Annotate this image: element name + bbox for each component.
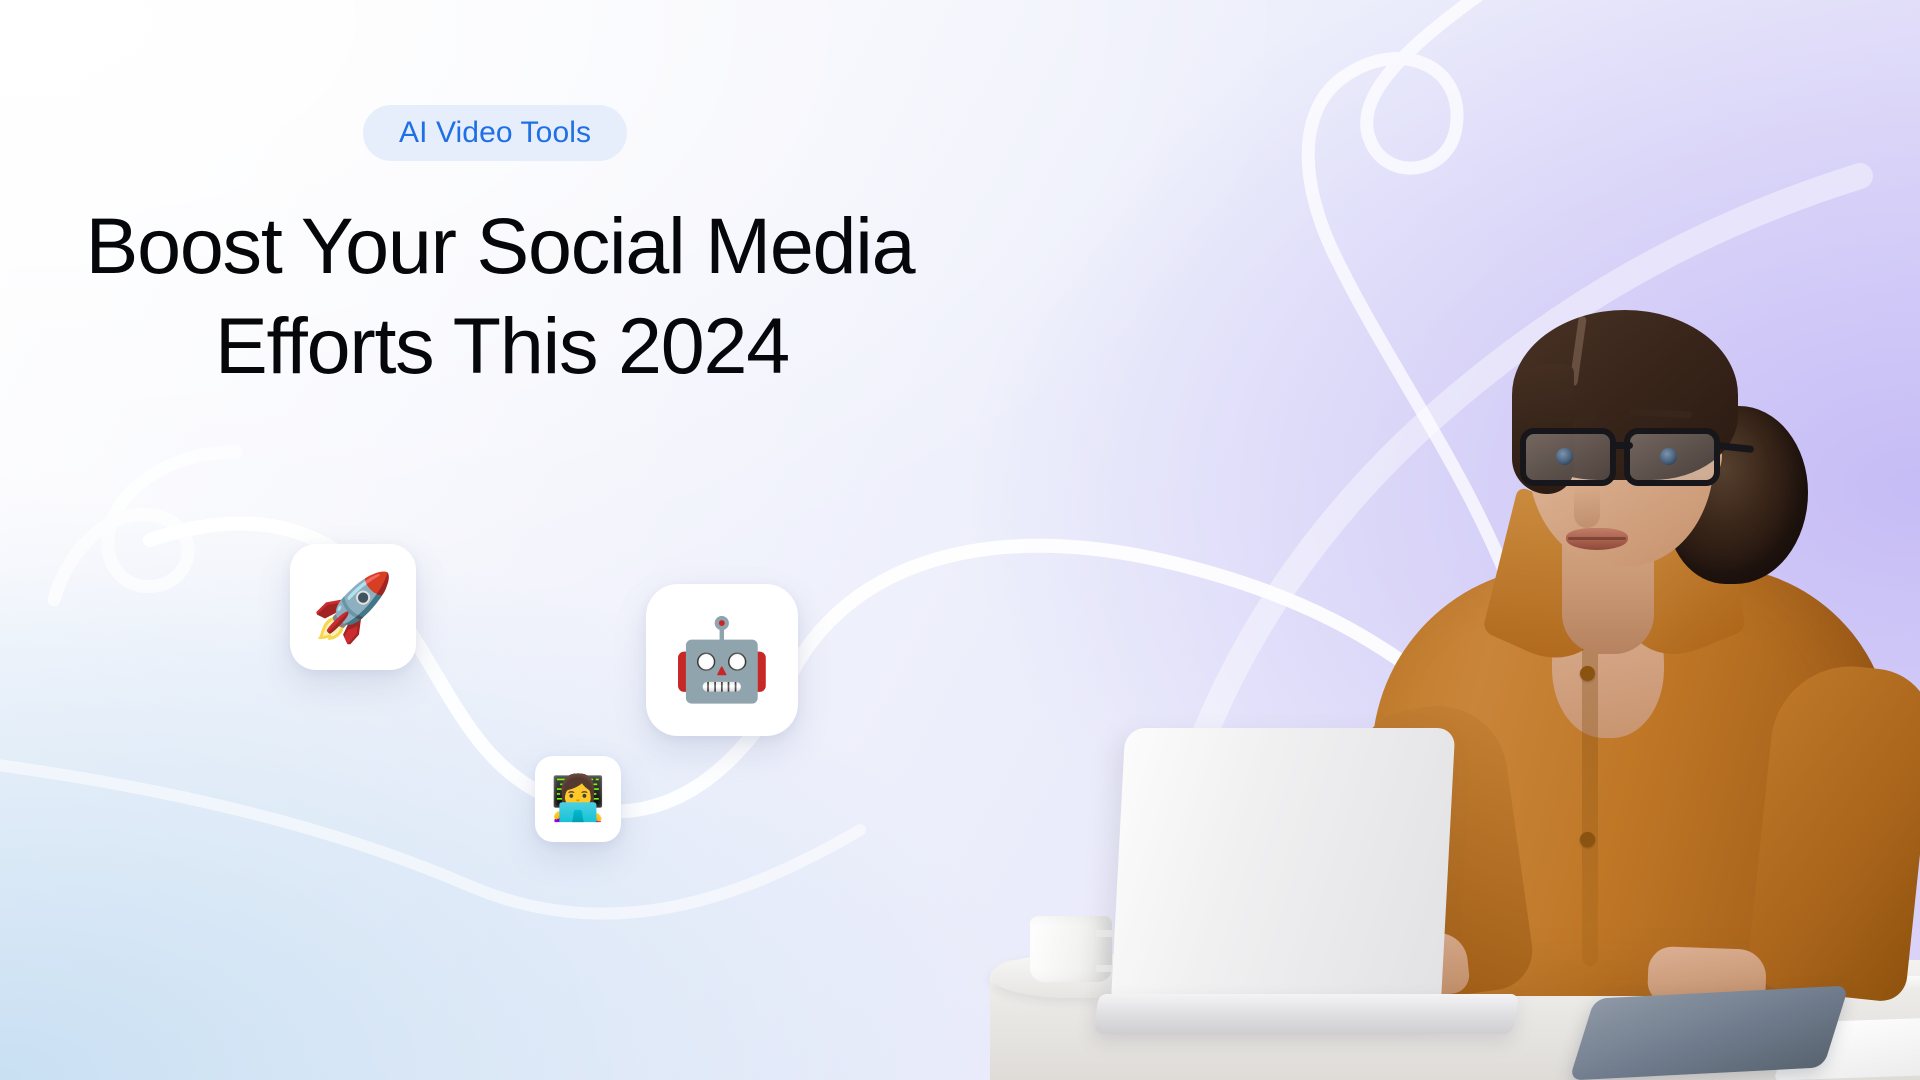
glasses-bridge — [1613, 442, 1633, 449]
robot-icon: 🤖 — [672, 620, 772, 700]
shirt-placket — [1582, 636, 1598, 966]
eyeglasses-icon — [1520, 422, 1740, 496]
hero-banner: AI Video Tools Boost Your Social Media E… — [0, 0, 1920, 1080]
eye-left — [1556, 448, 1573, 465]
emoji-card-robot[interactable]: 🤖 — [646, 584, 798, 736]
coffee-cup — [1030, 916, 1112, 982]
shirt-button — [1580, 832, 1595, 847]
category-badge-label: AI Video Tools — [399, 116, 591, 150]
shirt-button — [1580, 666, 1595, 681]
category-badge[interactable]: AI Video Tools — [363, 105, 627, 161]
woman-technologist-icon: 👩‍💻 — [551, 777, 606, 821]
rocket-icon: 🚀 — [312, 574, 394, 640]
hero-photo — [1000, 220, 1920, 1080]
emoji-card-rocket[interactable]: 🚀 — [290, 544, 416, 670]
lip-line — [1568, 537, 1626, 540]
emoji-card-woman-technologist[interactable]: 👩‍💻 — [535, 756, 621, 842]
laptop-screen — [1111, 728, 1456, 1008]
laptop-keyboard-base — [1093, 994, 1519, 1034]
eye-right — [1660, 448, 1677, 465]
tablet-device — [1569, 986, 1849, 1080]
